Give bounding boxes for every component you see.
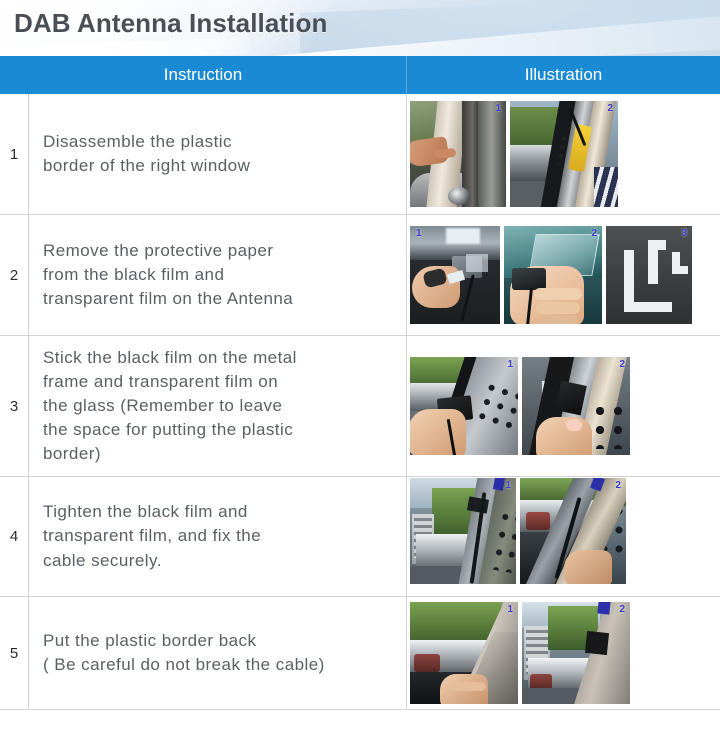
photo-region-border-notch — [585, 631, 609, 655]
page-title: DAB Antenna Installation — [14, 8, 327, 39]
photo-region-hand — [564, 550, 612, 585]
photo-region-red-car — [526, 512, 550, 530]
photo-region-finger — [534, 288, 582, 300]
photo-region-antenna — [512, 268, 546, 290]
photo-region-finger — [450, 682, 486, 691]
illustration-photo: 1 — [409, 477, 517, 585]
illustration-photo: 2 — [503, 225, 603, 325]
step-number-cell: 4 — [0, 477, 29, 596]
table-row: 1 Disassemble the plastic border of the … — [0, 94, 720, 215]
instruction-text: Put the plastic border back ( Be careful… — [43, 629, 325, 677]
photo-region-hand — [536, 417, 592, 456]
step-number-cell: 2 — [0, 215, 29, 335]
photo-region-seat-fabric — [594, 167, 619, 208]
banner-streak-base — [0, 38, 250, 56]
illustration-photo: 2 — [519, 477, 627, 585]
column-header-instruction: Instruction — [0, 56, 407, 94]
photo-badge: 2 — [591, 228, 597, 239]
photo-strip: 1 2 — [409, 100, 619, 208]
photo-region-cable — [460, 274, 475, 321]
photo-badge: 2 — [615, 480, 621, 491]
illustration-photo: 1 — [409, 100, 507, 208]
photo-region-fingernail — [566, 419, 582, 431]
photo-strip: 1 2 — [409, 225, 693, 325]
photo-badge: 3 — [681, 228, 687, 239]
illustration-photo: 2 — [521, 601, 631, 705]
instruction-cell: Remove the protective paper from the bla… — [29, 215, 407, 335]
instruction-cell: Tighten the black film and transparent f… — [29, 477, 407, 596]
illustration-photo: 1 — [409, 356, 519, 456]
installation-guide-page: DAB Antenna Installation Instruction Ill… — [0, 0, 720, 730]
illustration-cell: 1 2 — [407, 597, 720, 709]
table-row: 3 Stick the black film on the metal fram… — [0, 336, 720, 477]
photo-badge: 1 — [416, 228, 422, 239]
instruction-text: Remove the protective paper from the bla… — [43, 239, 293, 311]
photo-region-red-car — [414, 654, 440, 672]
instruction-text: Stick the black film on the metal frame … — [43, 346, 297, 467]
instruction-cell: Stick the black film on the metal frame … — [29, 336, 407, 476]
photo-region-speaker-knob — [448, 187, 470, 205]
installation-steps-table: Instruction Illustration 1 Disassemble t… — [0, 56, 720, 710]
photo-badge: 2 — [619, 604, 625, 615]
photo-region-finger — [538, 315, 578, 325]
photo-badge: 1 — [507, 604, 513, 615]
photo-region-door-frame — [478, 101, 507, 208]
illustration-photo: 2 — [521, 356, 631, 456]
instruction-cell: Disassemble the plastic border of the ri… — [29, 94, 407, 214]
photo-region-black-film — [467, 496, 489, 513]
photo-strip: 1 2 — [409, 356, 631, 456]
illustration-photo: 2 — [509, 100, 619, 208]
instruction-text: Disassemble the plastic border of the ri… — [43, 130, 250, 178]
step-number-cell: 3 — [0, 336, 29, 476]
step-number-cell: 5 — [0, 597, 29, 709]
step-number-cell: 1 — [0, 94, 29, 214]
table-row: 5 Put the plastic border back ( Be caref… — [0, 597, 720, 709]
instruction-cell: Put the plastic border back ( Be careful… — [29, 597, 407, 709]
photo-region-finger — [536, 302, 580, 314]
photo-region-protective-paper-tab — [648, 240, 666, 250]
photo-region-highlight — [446, 228, 480, 244]
table-row: 4 Tighten the black film and transparent… — [0, 477, 720, 597]
photo-badge: 1 — [507, 359, 513, 370]
illustration-cell: 1 2 — [407, 336, 720, 476]
header-banner: DAB Antenna Installation — [0, 0, 720, 56]
photo-badge: 1 — [495, 103, 501, 114]
column-header-illustration: Illustration — [407, 56, 720, 94]
photo-badge: 2 — [619, 359, 625, 370]
table-body: 1 Disassemble the plastic border of the … — [0, 94, 720, 710]
photo-badge: 1 — [505, 480, 511, 491]
illustration-cell: 1 2 — [407, 94, 720, 214]
table-row: 2 Remove the protective paper from the b… — [0, 215, 720, 336]
table-header-row: Instruction Illustration — [0, 56, 720, 94]
illustration-cell: 1 2 — [407, 215, 720, 335]
photo-strip: 1 2 — [409, 601, 631, 705]
photo-region-hand — [409, 409, 466, 456]
photo-region-protective-paper-small — [672, 266, 688, 274]
illustration-photo: 3 — [605, 225, 693, 325]
photo-region-blue-marker — [597, 601, 610, 615]
banner-streak-right — [300, 0, 720, 56]
instruction-text: Tighten the black film and transparent f… — [43, 500, 261, 572]
illustration-cell: 1 2 — [407, 477, 720, 596]
photo-badge: 2 — [607, 103, 613, 114]
photo-region-frame-holes — [592, 403, 631, 449]
photo-region-transparent-film — [466, 254, 488, 272]
illustration-photo: 1 — [409, 225, 501, 325]
illustration-photo: 1 — [409, 601, 519, 705]
photo-strip: 1 2 — [409, 477, 627, 585]
